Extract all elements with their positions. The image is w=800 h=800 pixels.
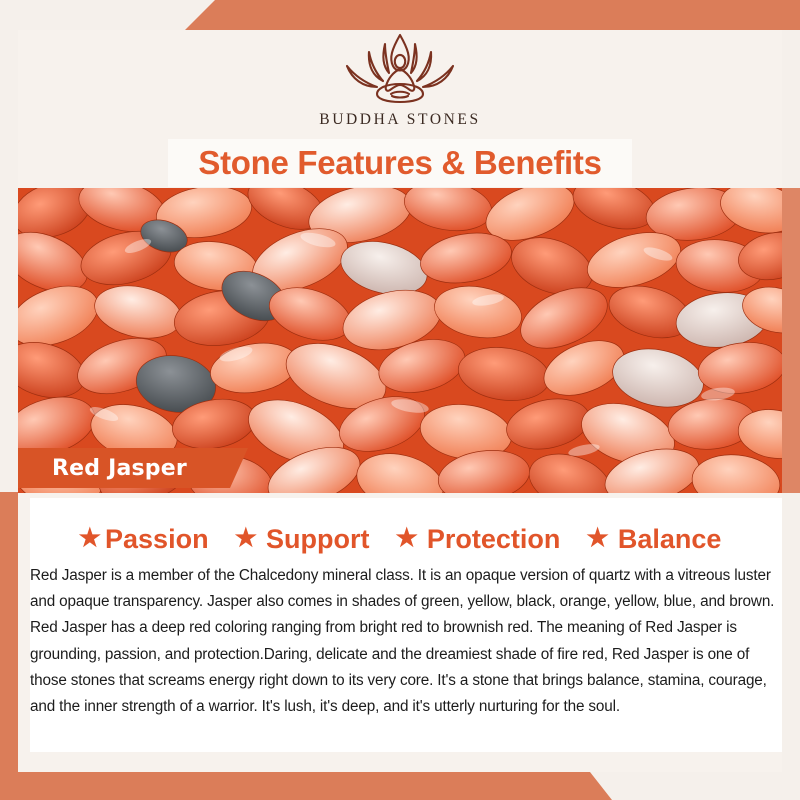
benefit-passion: ★ Passion	[79, 526, 209, 553]
top-accent-band	[0, 0, 800, 30]
page-title: Stone Features & Benefits	[198, 144, 601, 182]
brand-name: BUDDHA STONES	[319, 111, 480, 129]
title-plate: Stone Features & Benefits	[168, 139, 632, 187]
description-text: Red Jasper is a member of the Chalcedony…	[30, 563, 778, 720]
stone-name-ribbon: Red Jasper	[18, 448, 248, 488]
benefit-balance: ★ Balance	[586, 526, 721, 553]
red-jasper-stones-illustration	[18, 188, 782, 493]
star-icon: ★	[395, 526, 417, 551]
benefit-protection: ★ Protection	[395, 526, 560, 553]
lotus-meditation-icon	[325, 30, 475, 108]
brand-logo-block: BUDDHA STONES	[0, 30, 800, 140]
benefit-support: ★ Support	[235, 526, 370, 553]
benefit-label: Passion	[105, 526, 209, 553]
product-photo	[18, 188, 782, 493]
left-accent-strip	[0, 492, 18, 782]
star-icon: ★	[235, 526, 257, 551]
benefits-row: ★ Passion ★ Support ★ Protection ★ Balan…	[30, 518, 770, 560]
benefit-label: Protection	[427, 526, 561, 553]
bottom-accent-band	[0, 772, 800, 800]
star-icon: ★	[586, 526, 608, 551]
stone-name-label: Red Jasper	[52, 456, 187, 481]
star-icon: ★	[79, 526, 101, 551]
poster-root: BUDDHA STONES Stone Features & Benefits	[0, 0, 800, 800]
benefit-label: Support	[266, 526, 369, 553]
benefit-label: Balance	[618, 526, 722, 553]
photo-right-fade	[782, 188, 800, 493]
